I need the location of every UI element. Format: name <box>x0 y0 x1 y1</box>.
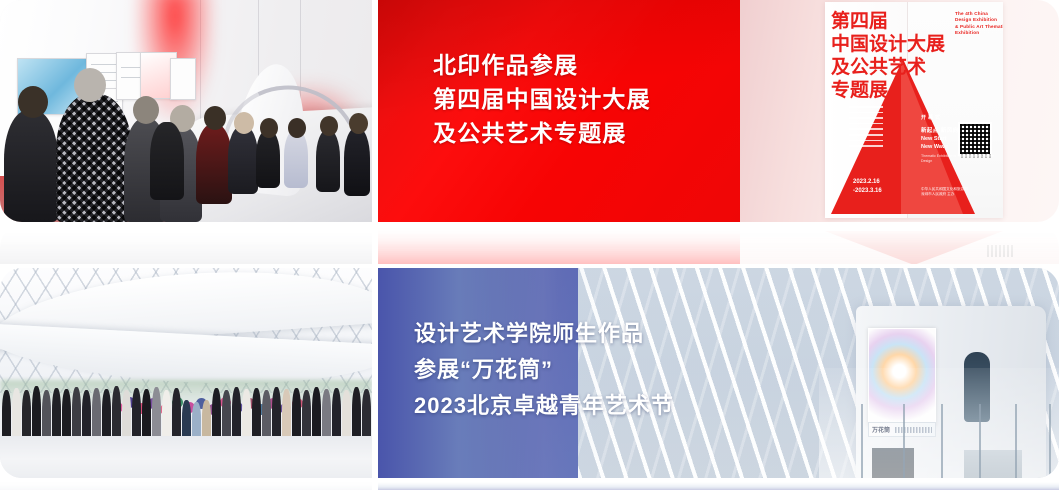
visitor-head <box>133 96 159 124</box>
poster-slogan-en1: New Start <box>921 135 995 143</box>
blue-headline-text: 设计艺术学院师生作品 参展“万花筒” 2023北京卓越青年艺术节 <box>414 316 884 424</box>
poster-slogan-cn: 新起点·新风向 <box>921 127 995 135</box>
blue-headline-line2: 参展“万花筒” <box>414 352 884 388</box>
red-panel-reflection <box>378 225 740 265</box>
visitor-head <box>204 106 226 130</box>
poster-section-label: 开幕式 <box>921 114 942 121</box>
poster-title-chinese: 第四届 中国设计大展 及公共艺术 专题展 <box>831 10 957 102</box>
visitor-silhouette <box>228 126 258 194</box>
poster-slogan-en2: New Wave <box>921 143 995 151</box>
group-photo-atrium <box>0 268 372 478</box>
visitor-head <box>234 112 254 134</box>
visitor-silhouette <box>256 130 280 188</box>
blue-headline-panel: 万花筒 设计艺术学院师生作品 参展“万花筒” 2023北京卓越青年艺术节 <box>378 268 1059 478</box>
photo-reflection <box>0 225 372 265</box>
poster-title-line4: 专题展 <box>831 79 957 102</box>
framed-artwork <box>170 58 196 100</box>
poster-date-end: -2023.3.16 <box>853 187 882 196</box>
poster-panel: 第四届 中国设计大展 及公共艺术 专题展 The 4th China Desig… <box>740 0 1059 222</box>
poster-slogan-en-sub: Thematic Exhibition of Contemporary Chin… <box>921 154 995 165</box>
blue-headline-line3: 2023北京卓越青年艺术节 <box>414 388 884 424</box>
exhibition-poster: 第四届 中国设计大展 及公共艺术 专题展 The 4th China Desig… <box>825 2 1003 218</box>
visitor-head <box>260 118 278 138</box>
poster-organizers: 中华人民共和国文化和旅游部 深圳市人民政府 主办 <box>921 187 997 198</box>
poster-title-line1: 第四届 <box>831 10 957 33</box>
exhibition-opening-photo <box>0 0 372 222</box>
blue-panel-reflection <box>378 481 1059 490</box>
visitor-head <box>74 68 106 102</box>
visitor-silhouette <box>56 94 132 222</box>
visitor-silhouette <box>196 124 232 204</box>
poster-dates: 2023.2.16 -2023.3.16 <box>853 178 882 196</box>
poster-en-line2: Design Exhibition <box>955 17 1003 23</box>
visitor-silhouette <box>344 128 370 196</box>
poster-title-english: The 4th China Design Exhibition & Public… <box>955 11 1003 37</box>
visitor-head <box>320 116 338 136</box>
visitor-silhouette <box>4 110 58 222</box>
poster-slogan: 新起点·新风向 New Start New Wave Thematic Exhi… <box>921 127 995 165</box>
red-headline-panel: 北印作品参展 第四届中国设计大展 及公共艺术专题展 <box>378 0 740 222</box>
red-headline-line1: 北印作品参展 <box>433 48 716 82</box>
poster-title-line3: 及公共艺术 <box>831 56 957 79</box>
blue-headline-line1: 设计艺术学院师生作品 <box>414 316 884 352</box>
group-photo-reflection <box>0 481 372 490</box>
poster-title-line2: 中国设计大展 <box>831 33 957 56</box>
red-headline-text: 北印作品参展 第四届中国设计大展 及公共艺术专题展 <box>433 48 716 150</box>
reflective-floor <box>0 436 372 478</box>
poster-credit-lines <box>849 106 883 151</box>
visitor-head <box>288 118 306 138</box>
red-headline-line2: 第四届中国设计大展 <box>433 82 716 116</box>
poster-collage: 北印作品参展 第四届中国设计大展 及公共艺术专题展 第四届 中国设计大展 及公共… <box>0 0 1059 490</box>
crowd-row <box>0 378 372 440</box>
poster-date-start: 2023.2.16 <box>853 178 882 187</box>
poster-panel-reflection <box>740 225 1059 265</box>
poster-org-line2: 深圳市人民政府 主办 <box>921 192 997 198</box>
visitor-silhouette <box>284 130 308 188</box>
visitor-silhouette <box>316 130 340 192</box>
visitor-head <box>18 86 48 118</box>
visitor-silhouette <box>150 122 184 200</box>
poster-en-line4: Exhibition <box>955 30 1003 36</box>
red-headline-line3: 及公共艺术专题展 <box>433 116 716 150</box>
visitor-head <box>349 113 368 134</box>
